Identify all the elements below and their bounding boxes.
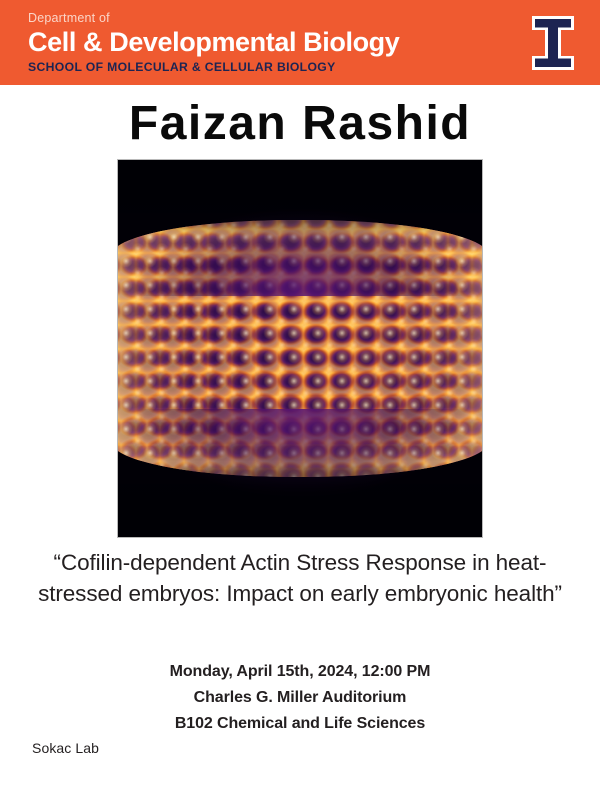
furrow-rim-glow — [117, 220, 483, 476]
school-name: SCHOOL OF MOLECULAR & CELLULAR BIOLOGY — [28, 60, 399, 75]
department-name: Cell & Developmental Biology — [28, 27, 399, 58]
department-prefix: Department of — [28, 11, 399, 26]
header-text-block: Department of Cell & Developmental Biolo… — [28, 11, 399, 75]
embryo-cell-band — [117, 220, 483, 476]
talk-title: “Cofilin-dependent Actin Stress Response… — [12, 547, 588, 609]
header-band: Department of Cell & Developmental Biolo… — [0, 0, 600, 85]
event-details: Monday, April 15th, 2024, 12:00 PM Charl… — [0, 659, 600, 737]
event-venue: Charles G. Miller Auditorium — [0, 685, 600, 711]
page-title: Faizan Rashid — [0, 96, 600, 152]
microscopy-image — [117, 159, 483, 538]
illinois-block-i-logo — [518, 8, 588, 78]
event-datetime: Monday, April 15th, 2024, 12:00 PM — [0, 659, 600, 685]
block-i-icon — [518, 8, 588, 78]
microscopy-canvas — [118, 160, 482, 537]
event-address: B102 Chemical and Life Sciences — [0, 711, 600, 737]
lab-credit: Sokac Lab — [32, 740, 99, 756]
